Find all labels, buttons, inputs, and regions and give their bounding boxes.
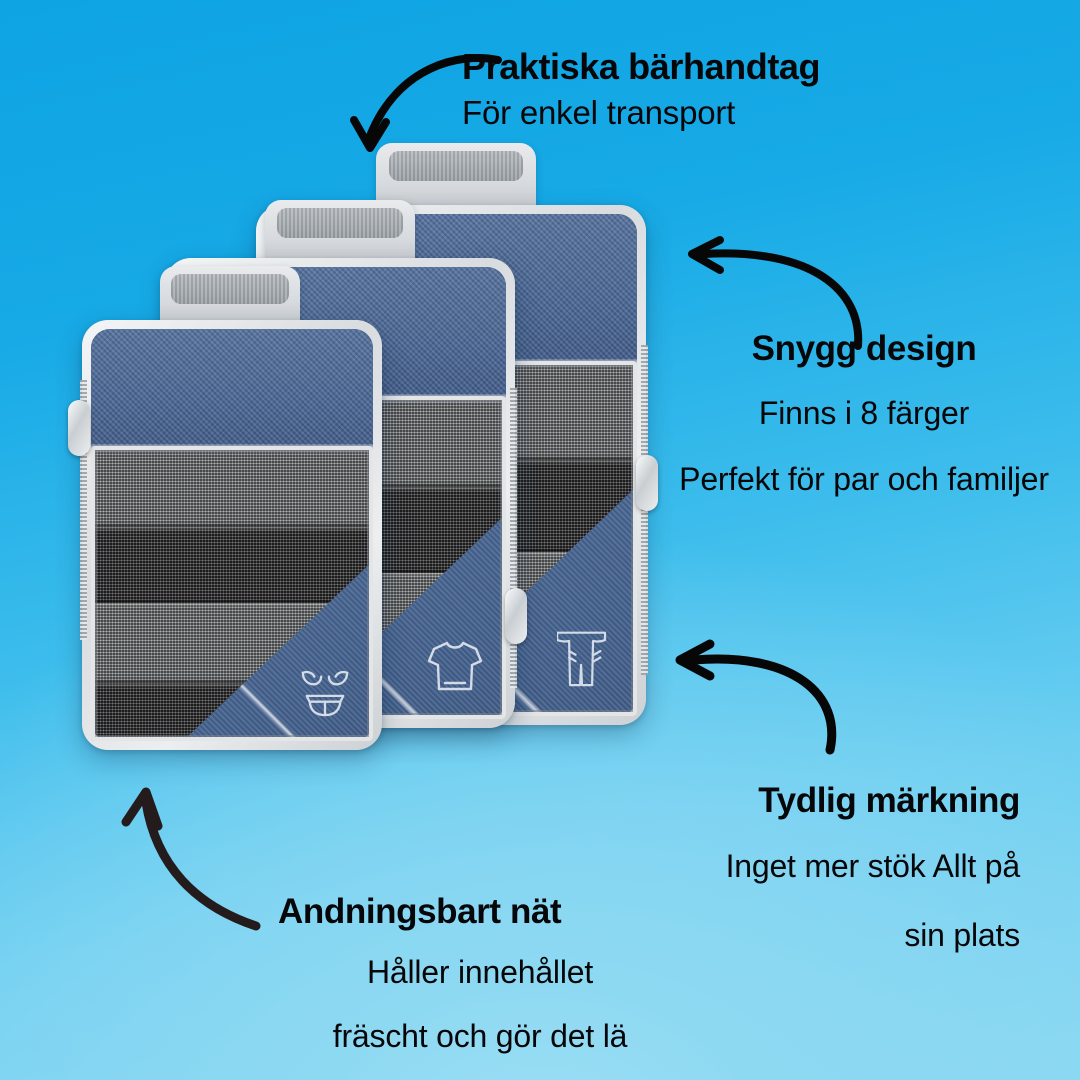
handle-grip (277, 208, 403, 238)
blue-panel (91, 329, 373, 449)
annotation-subtitle-line: För enkel transport (462, 92, 820, 134)
annotation-title: Tydlig märkning (620, 782, 1020, 819)
tshirt-icon (426, 639, 484, 693)
pants-icon (557, 628, 613, 694)
annotation-subtitle-line: Håller innehållet (270, 952, 690, 994)
mesh-band (91, 527, 373, 603)
zipper-pull-small (68, 400, 90, 456)
annotation-subtitle-line: Perfekt för par och familjer (660, 459, 1068, 499)
underwear-icon (297, 667, 353, 719)
annotation-title: Andningsbart nät (270, 893, 690, 930)
handle-grip (389, 151, 523, 181)
annotation-subtitle-line: fräscht och gör det lä (270, 1016, 690, 1058)
infographic-canvas: Praktiska bärhandtag För enkel transport… (0, 0, 1080, 1080)
annotation-title: Snygg design (660, 330, 1068, 367)
annotation-subtitle-line: Finns i 8 färger (660, 393, 1068, 433)
cube-face (91, 329, 373, 741)
packing-cube-small (82, 320, 382, 750)
annotation-subtitle-line: Inget mer stök Allt på (620, 845, 1020, 888)
annotation-breathable-mesh: Andningsbart nät Håller innehållet fräsc… (270, 893, 690, 1057)
annotation-handles: Praktiska bärhandtag För enkel transport (462, 48, 820, 134)
annotation-design: Snygg design Finns i 8 färger Perfekt fö… (660, 330, 1068, 500)
handle-grip (171, 274, 289, 304)
zipper-pull-large (636, 455, 658, 511)
mesh-band (91, 449, 373, 527)
cube-body (82, 320, 382, 750)
annotation-title: Praktiska bärhandtag (462, 48, 820, 86)
zipper-pull-medium (505, 588, 527, 644)
